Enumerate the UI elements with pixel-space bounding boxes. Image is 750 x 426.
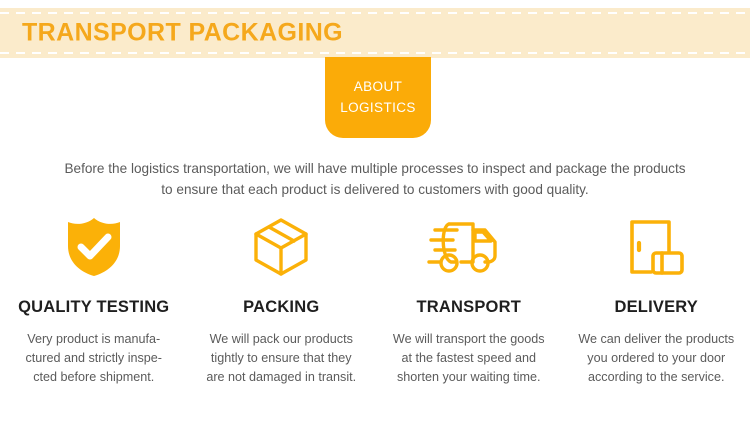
feature-desc-line: tightly to ensure that they (197, 349, 365, 368)
feature-desc-line: We will pack our products (197, 330, 365, 349)
feature-column-transport: TRANSPORT We will transport the goods at… (375, 216, 563, 387)
about-logistics-badge: ABOUT LOGISTICS (325, 57, 431, 138)
about-badge-line-1: ABOUT (354, 79, 403, 95)
shield-check-icon (64, 216, 124, 278)
feature-title-delivery: DELIVERY (614, 298, 698, 317)
feature-desc-line: according to the service. (572, 368, 740, 387)
feature-desc-line: are not damaged in transit. (197, 368, 365, 387)
feature-desc-delivery: We can deliver the products you ordered … (572, 330, 740, 387)
feature-columns: QUALITY TESTING Very product is manufa- … (0, 216, 750, 387)
feature-desc-line: We can deliver the products (572, 330, 740, 349)
intro-line-1: Before the logistics transportation, we … (0, 158, 750, 179)
package-box-icon (250, 216, 312, 278)
feature-desc-line: at the fastest speed and (385, 349, 553, 368)
header-dashed-line-top (0, 12, 750, 14)
header-dashed-line-bottom (0, 52, 750, 54)
feature-title-transport: TRANSPORT (417, 298, 521, 317)
feature-desc-packing: We will pack our products tightly to ens… (197, 330, 365, 387)
feature-desc-line: cted before shipment. (10, 368, 178, 387)
feature-desc-transport: We will transport the goods at the faste… (385, 330, 553, 387)
feature-desc-quality-testing: Very product is manufa- ctured and stric… (10, 330, 178, 387)
feature-desc-line: We will transport the goods (385, 330, 553, 349)
feature-desc-line: you ordered to your door (572, 349, 740, 368)
feature-desc-line: shorten your waiting time. (385, 368, 553, 387)
feature-title-quality-testing: QUALITY TESTING (18, 298, 169, 317)
delivery-truck-icon (427, 216, 511, 278)
feature-column-delivery: DELIVERY We can deliver the products you… (563, 216, 750, 387)
door-parcel-icon (627, 216, 685, 278)
page-title: TRANSPORT PACKAGING (22, 19, 343, 48)
intro-line-2: to ensure that each product is delivered… (0, 179, 750, 200)
page-header-band: TRANSPORT PACKAGING (0, 8, 750, 58)
intro-paragraph: Before the logistics transportation, we … (0, 158, 750, 200)
feature-column-quality-testing: QUALITY TESTING Very product is manufa- … (0, 216, 188, 387)
feature-column-packing: PACKING We will pack our products tightl… (188, 216, 376, 387)
feature-desc-line: ctured and strictly inspe- (10, 349, 178, 368)
feature-desc-line: Very product is manufa- (10, 330, 178, 349)
about-badge-line-2: LOGISTICS (340, 100, 416, 116)
feature-title-packing: PACKING (243, 298, 319, 317)
